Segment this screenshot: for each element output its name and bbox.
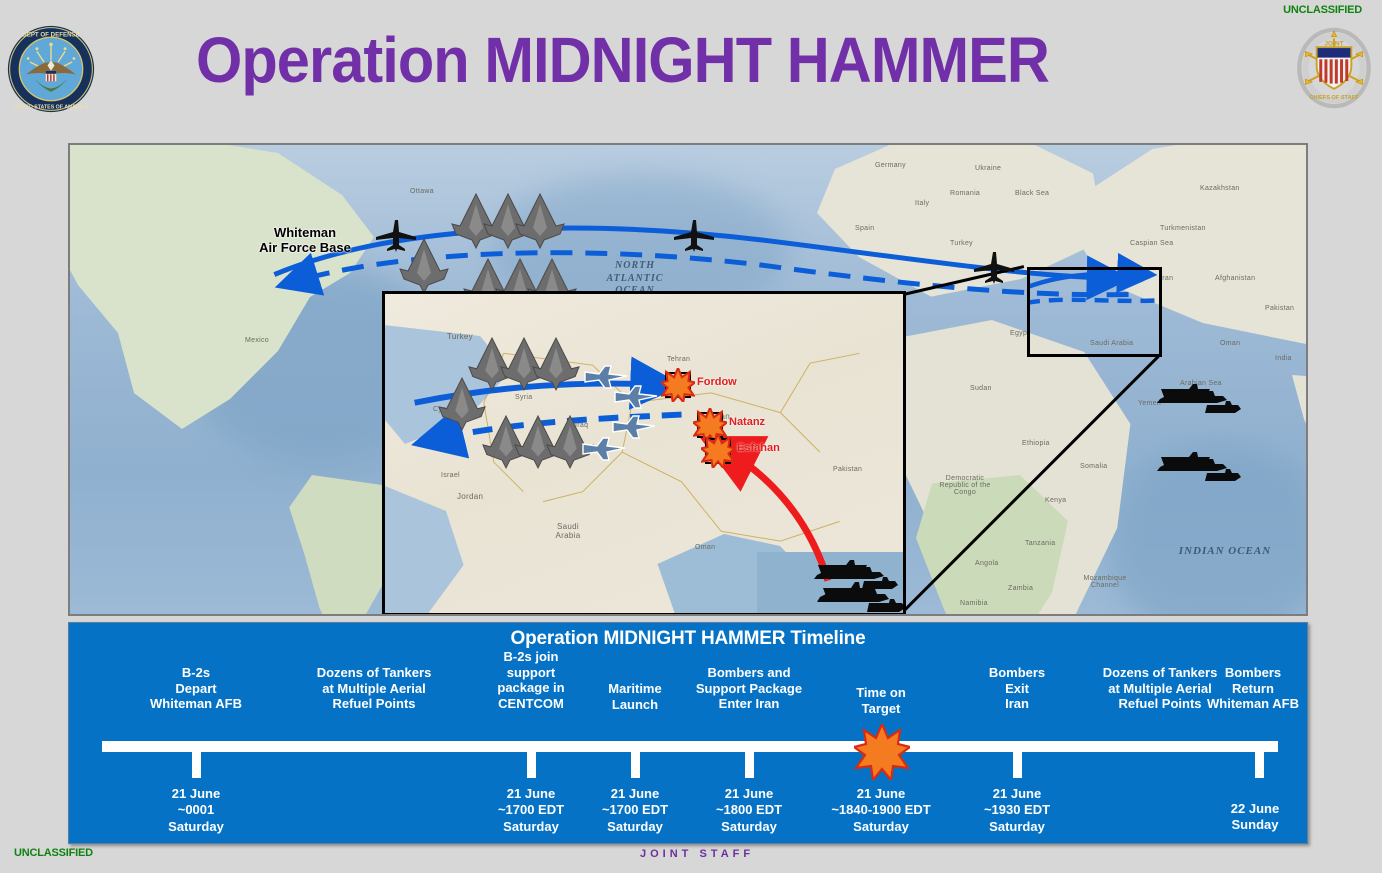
- timeline-event-datetime: 21 June ~1700 EDT Saturday: [575, 786, 695, 835]
- target-burst-icon: [661, 368, 695, 402]
- b-2-bomber-icon: [531, 334, 581, 392]
- timeline-tick: [527, 752, 536, 778]
- fighter-escort-icon: [581, 434, 627, 464]
- jcs-seal-top-text: JOINT: [1324, 40, 1343, 47]
- page-title: Operation MIDNIGHT HAMMER: [196, 28, 1126, 92]
- target-burst-icon: [701, 434, 735, 468]
- target-marker-esfahan[interactable]: [705, 438, 731, 464]
- timeline-event-label: B-2s Depart Whiteman AFB: [121, 665, 271, 712]
- time-on-target-burst-icon: [854, 724, 910, 780]
- organization-label: JOINT STAFF: [640, 848, 754, 860]
- dod-seal-outer-text: DEPT OF DEFENSE: [22, 31, 79, 38]
- timeline-event-datetime: 21 June ~1840-1900 EDT Saturday: [791, 786, 971, 835]
- header: DEPT OF DEFENSE UNITED STATES OF AMERICA…: [0, 0, 1382, 140]
- timeline-event-label: Bombers and Support Package Enter Iran: [664, 665, 834, 712]
- timeline-axis: [102, 741, 1278, 752]
- timeline-event-label: Dozens of Tankers at Multiple Aerial Ref…: [284, 665, 464, 712]
- timeline-event-datetime: 21 June ~1930 EDT Saturday: [952, 786, 1082, 835]
- target-label-fordow: Fordow: [697, 376, 737, 388]
- timeline-event-datetime: 21 June ~1700 EDT Saturday: [471, 786, 591, 835]
- timeline-tick: [1013, 752, 1022, 778]
- timeline-tick: [192, 752, 201, 778]
- naval-vessel-group-icon: [1155, 377, 1245, 417]
- timeline-event-label: Bombers Exit Iran: [952, 665, 1082, 712]
- timeline-tick: [631, 752, 640, 778]
- tanker-aircraft-icon: [970, 250, 1018, 284]
- b-2-bomber-icon: [514, 190, 566, 250]
- target-label-natanz: Natanz: [729, 416, 765, 428]
- callout-region-box: [1027, 267, 1162, 357]
- operation-timeline-panel: Operation MIDNIGHT HAMMER Timeline B-2s …: [68, 622, 1308, 844]
- timeline-event-datetime: 22 June Sunday: [1185, 801, 1325, 834]
- operation-map: NORTH ATLANTIC OCEAN INDIAN OCEAN Ottawa…: [68, 143, 1308, 616]
- timeline-event-label: B-2s join support package in CENTCOM: [471, 649, 591, 711]
- callout-connector: [903, 356, 1158, 611]
- naval-vessel-group-icon: [812, 553, 902, 593]
- timeline-tick: [1255, 752, 1264, 778]
- timeline-event-label: Bombers Return Whiteman AFB: [1178, 665, 1328, 712]
- target-marker-fordow[interactable]: [665, 372, 691, 398]
- timeline-event-label: Time on Target: [821, 685, 941, 716]
- timeline-title: Operation MIDNIGHT HAMMER Timeline: [69, 628, 1307, 650]
- naval-vessel-group-icon: [1155, 445, 1245, 485]
- department-of-defense-seal: DEPT OF DEFENSE UNITED STATES OF AMERICA: [7, 25, 95, 113]
- tanker-aircraft-icon: [670, 218, 718, 252]
- b-2-bomber-icon: [398, 235, 450, 295]
- jcs-seal-bottom-text: CHIEFS OF STAFF: [1309, 95, 1359, 101]
- joint-chiefs-of-staff-seal: JOINT CHIEFS OF STAFF: [1295, 24, 1373, 112]
- timeline-tick: [745, 752, 754, 778]
- dod-seal-inner-text: UNITED STATES OF AMERICA: [13, 105, 89, 111]
- target-label-esfahan: Esfahan: [737, 442, 780, 454]
- fighter-escort-icon: [613, 382, 659, 412]
- classification-marking-bottom: UNCLASSIFIED: [14, 847, 93, 859]
- whiteman-afb-label: Whiteman Air Force Base: [240, 226, 370, 256]
- timeline-event-datetime: 21 June ~0001 Saturday: [121, 786, 271, 835]
